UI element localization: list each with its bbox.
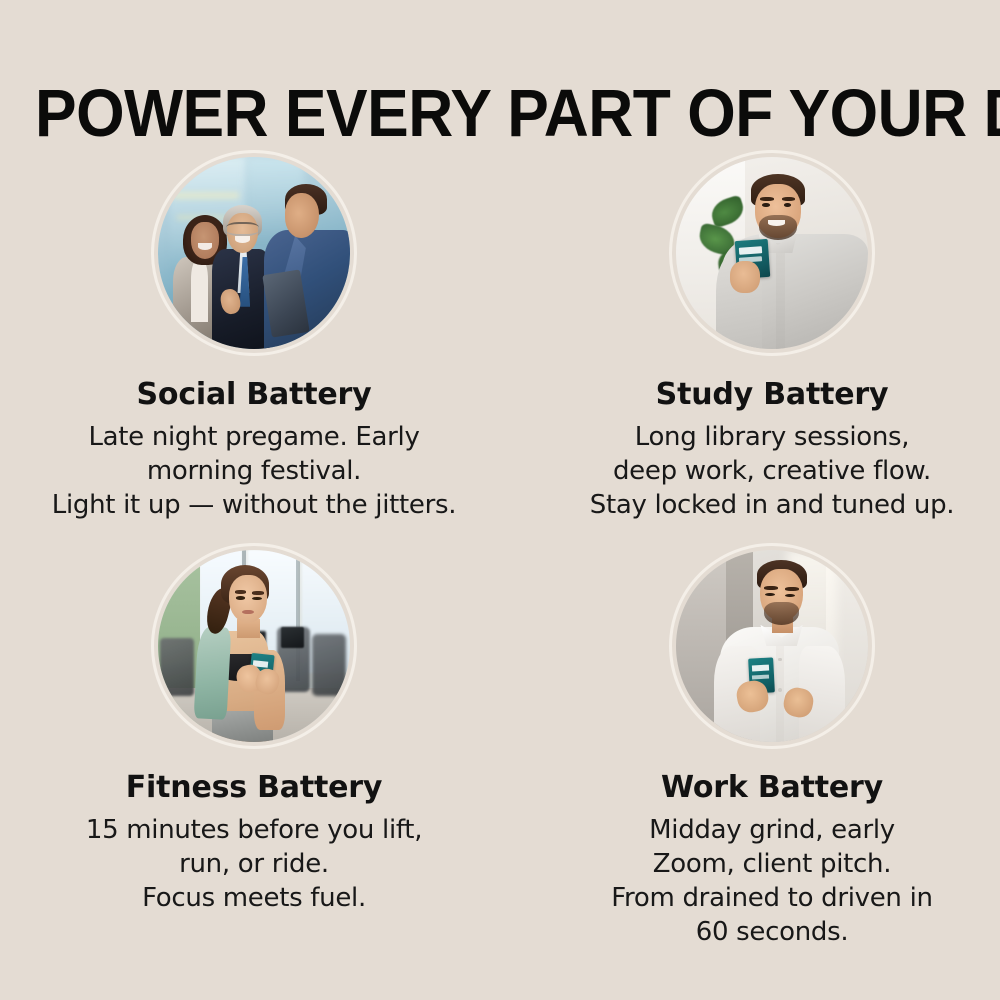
card-line: run, or ride.: [4, 847, 504, 881]
fitness-photo-ring: [151, 543, 357, 749]
benefit-card-fitness: Fitness Battery 15 minutes before you li…: [4, 543, 504, 915]
card-body-study: Long library sessions, deep work, creati…: [522, 420, 1000, 522]
fitness-photo-frame: [151, 543, 357, 749]
card-line: Stay locked in and tuned up.: [522, 488, 1000, 522]
card-line: morning festival.: [4, 454, 504, 488]
card-body-fitness: 15 minutes before you lift, run, or ride…: [4, 813, 504, 915]
card-title-work: Work Battery: [522, 771, 1000, 805]
page-title: POWER EVERY PART OF YOUR DAY: [35, 79, 965, 149]
work-photo-ring: [669, 543, 875, 749]
social-photo-frame: [151, 150, 357, 356]
card-line: Focus meets fuel.: [4, 881, 504, 915]
card-line: 60 seconds.: [522, 915, 1000, 949]
benefit-card-study: Study Battery Long library sessions, dee…: [522, 150, 1000, 522]
card-line: deep work, creative flow.: [522, 454, 1000, 488]
work-photo-frame: [669, 543, 875, 749]
card-line: Zoom, client pitch.: [522, 847, 1000, 881]
social-photo-ring: [151, 150, 357, 356]
card-line: Light it up — without the jitters.: [4, 488, 504, 522]
card-line: Late night pregame. Early: [4, 420, 504, 454]
benefits-grid: Social Battery Late night pregame. Early…: [0, 150, 1000, 1000]
benefit-card-work: Work Battery Midday grind, early Zoom, c…: [522, 543, 1000, 949]
card-line: From drained to driven in: [522, 881, 1000, 915]
card-line: Long library sessions,: [522, 420, 1000, 454]
card-body-social: Late night pregame. Early morning festiv…: [4, 420, 504, 522]
study-photo-frame: [669, 150, 875, 356]
card-title-study: Study Battery: [522, 378, 1000, 412]
card-line: 15 minutes before you lift,: [4, 813, 504, 847]
study-photo-ring: [669, 150, 875, 356]
card-line: Midday grind, early: [522, 813, 1000, 847]
benefit-card-social: Social Battery Late night pregame. Early…: [4, 150, 504, 522]
card-title-fitness: Fitness Battery: [4, 771, 504, 805]
card-body-work: Midday grind, early Zoom, client pitch. …: [522, 813, 1000, 949]
card-title-social: Social Battery: [4, 378, 504, 412]
